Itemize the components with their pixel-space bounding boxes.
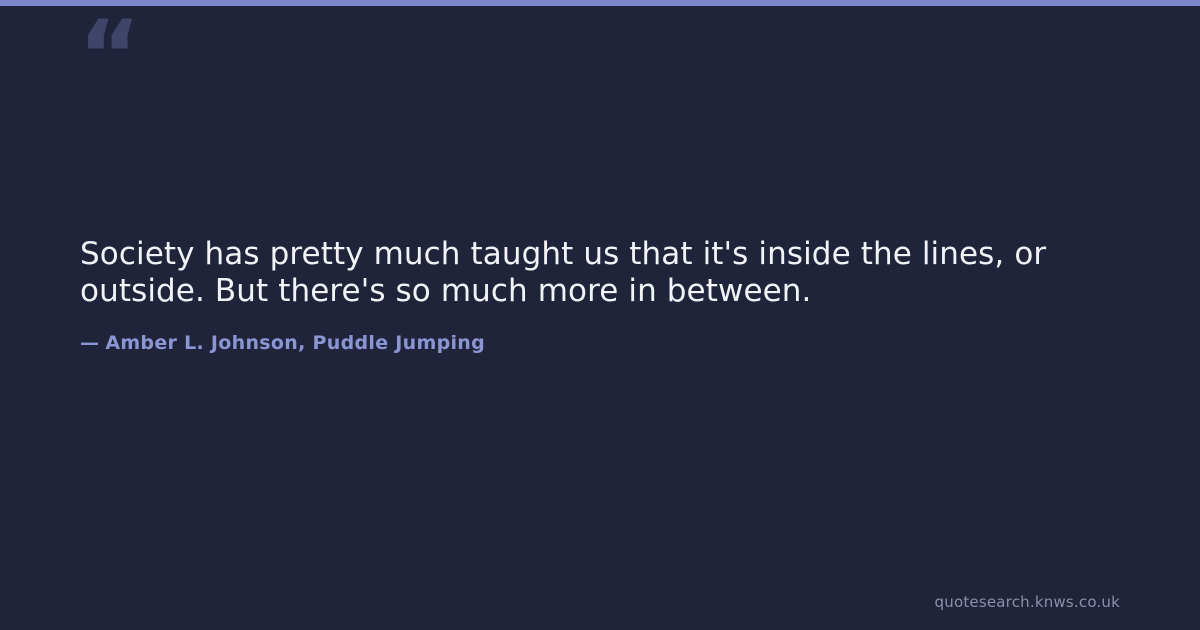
attribution-separator: , bbox=[298, 332, 312, 354]
quote-card: “ Society has pretty much taught us that… bbox=[0, 0, 1200, 630]
opening-quote-mark-icon: “ bbox=[78, 8, 139, 104]
quote-attribution: —Amber L. Johnson, Puddle Jumping bbox=[80, 332, 1110, 354]
site-watermark: quotesearch.knws.co.uk bbox=[935, 593, 1120, 611]
attribution-author: Amber L. Johnson bbox=[105, 332, 298, 354]
quote-text: Society has pretty much taught us that i… bbox=[80, 236, 1080, 310]
top-accent-bar bbox=[0, 0, 1200, 6]
attribution-work: Puddle Jumping bbox=[313, 332, 486, 354]
quote-content: Society has pretty much taught us that i… bbox=[80, 236, 1110, 354]
attribution-dash: — bbox=[80, 332, 99, 354]
